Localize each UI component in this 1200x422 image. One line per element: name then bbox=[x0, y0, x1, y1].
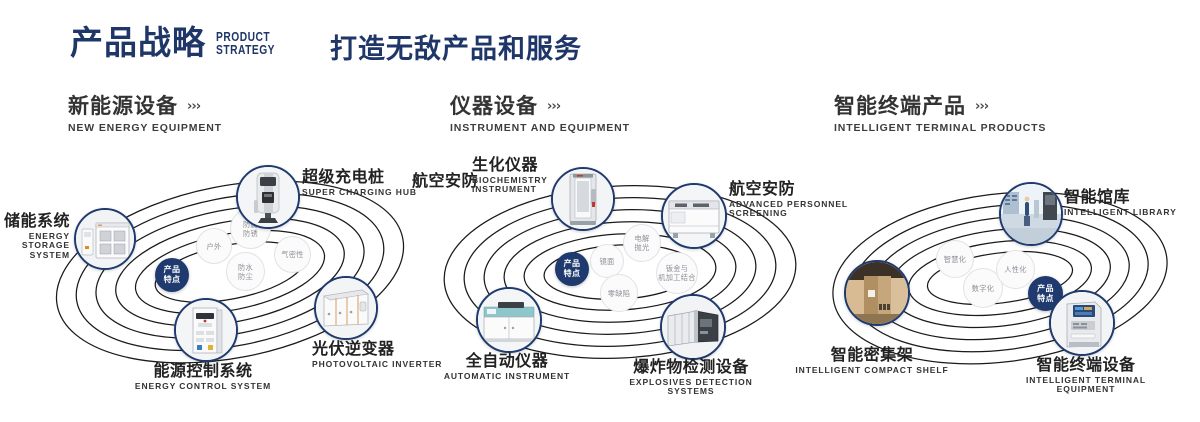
chevron-right-icon: ››› bbox=[975, 100, 988, 113]
section-title-cn: 智能终端产品 ››› bbox=[834, 95, 1046, 118]
node-automatic-instrument[interactable] bbox=[476, 287, 542, 353]
feature-bubble-text: 户外 bbox=[207, 242, 222, 251]
node-energy-storage[interactable] bbox=[74, 208, 136, 270]
node-label-en: BIOCHEMISTRY INSTRUMENT bbox=[472, 176, 592, 195]
node-label-en: AUTOMATIC INSTRUMENT bbox=[432, 372, 582, 382]
node-pv-inverter[interactable] bbox=[314, 276, 378, 340]
feature-bubble-text: 镜面 bbox=[600, 257, 615, 266]
feature-bubble-text: 钣金与 机加工结合 bbox=[658, 264, 695, 282]
feature-bubble: 镜面 bbox=[590, 244, 624, 278]
compact-shelving-photo bbox=[846, 262, 908, 324]
feature-bubble-text: 电解 抛光 bbox=[635, 234, 650, 252]
node-label-explosives-detection: 爆炸物检测设备 EXPLOSIVES DETECTION SYSTEMS bbox=[616, 358, 766, 397]
node-label-en: INTELLIGENT LIBRARY bbox=[1064, 208, 1194, 218]
core-badge-text: 产品 特点 bbox=[564, 259, 581, 279]
node-label-energy-storage: 储能系统 ENERGY STORAGE SYSTEM bbox=[0, 212, 70, 260]
diagram-new-energy: 户外 防腐 防锈 防水 防尘 气密性 产品 特点 bbox=[30, 150, 430, 410]
node-label-automatic-instrument: 全自动仪器 AUTOMATIC INSTRUMENT bbox=[432, 352, 582, 381]
feature-bubble: 气密性 bbox=[274, 236, 311, 273]
feature-bubble-text: 智慧化 bbox=[944, 255, 966, 264]
section-title-instrument: 仪器设备 ››› INSTRUMENT AND EQUIPMENT bbox=[450, 95, 630, 134]
explosives-detector-photo bbox=[662, 296, 724, 358]
section-title-cn-text: 新能源设备 bbox=[68, 95, 178, 118]
chevron-right-icon: ››› bbox=[547, 100, 560, 113]
node-label-en: ENERGY CONTROL SYSTEM bbox=[88, 382, 318, 392]
screening-machine-photo bbox=[663, 185, 725, 247]
node-label-cn: 能源控制系统 bbox=[88, 362, 318, 380]
node-compact-shelf[interactable] bbox=[844, 260, 910, 326]
section-title-cn-text: 智能终端产品 bbox=[834, 95, 966, 118]
node-label-energy-control: 能源控制系统 ENERGY CONTROL SYSTEM bbox=[88, 362, 318, 391]
energy-storage-cabinet-photo bbox=[76, 210, 134, 268]
node-label-terminal-kiosk: 智能终端设备 INTELLIGENT TERMINAL EQUIPMENT bbox=[1006, 356, 1166, 395]
node-label-compact-shelf: 智能密集架 INTELLIGENT COMPACT SHELF bbox=[792, 346, 952, 375]
node-label-intelligent-library: 智能馆库 INTELLIGENT LIBRARY bbox=[1064, 188, 1194, 217]
core-badge-text: 产品 特点 bbox=[164, 265, 181, 285]
feature-bubble-text: 数字化 bbox=[972, 284, 994, 293]
ev-charging-pile-photo bbox=[238, 167, 298, 227]
core-badge-text: 产品 特点 bbox=[1037, 284, 1054, 304]
page-title: 产品战略 PRODUCT STRATEGY bbox=[70, 26, 288, 59]
feature-bubble: 户外 bbox=[196, 228, 232, 264]
poster-canvas: 产品战略 PRODUCT STRATEGY 打造无敌产品和服务 新能源设备 ››… bbox=[0, 0, 1200, 422]
section-title-cn: 仪器设备 ››› bbox=[450, 95, 630, 118]
node-label-cn: 智能馆库 bbox=[1064, 188, 1194, 206]
feature-bubble-text: 气密性 bbox=[281, 250, 303, 259]
node-label-biochemistry: 生化仪器 BIOCHEMISTRY INSTRUMENT bbox=[472, 156, 592, 195]
section-title-cn: 新能源设备 ››› bbox=[68, 95, 222, 118]
automatic-analyzer-photo bbox=[478, 289, 540, 351]
feature-bubble: 电解 抛光 bbox=[623, 224, 661, 262]
core-badge-product-features: 产品 特点 bbox=[155, 258, 189, 292]
node-intelligent-library[interactable] bbox=[999, 182, 1063, 246]
node-label-en: INTELLIGENT COMPACT SHELF bbox=[792, 366, 952, 376]
node-label-en: EXPLOSIVES DETECTION SYSTEMS bbox=[616, 378, 766, 397]
section-title-cn-text: 仪器设备 bbox=[450, 95, 538, 118]
section-title-en: NEW ENERGY EQUIPMENT bbox=[68, 122, 222, 134]
pv-inverter-cabinet-photo bbox=[316, 278, 376, 338]
feature-bubble-text: 零缺陷 bbox=[608, 289, 630, 298]
control-cabinet-photo bbox=[176, 300, 236, 360]
node-label-cn: 生化仪器 bbox=[472, 156, 592, 174]
node-label-cn: 储能系统 bbox=[0, 212, 70, 230]
node-label-en: ENERGY STORAGE SYSTEM bbox=[0, 232, 70, 261]
node-label-cn: 智能终端设备 bbox=[1006, 356, 1166, 374]
section-title-terminal: 智能终端产品 ››› INTELLIGENT TERMINAL PRODUCTS bbox=[834, 95, 1046, 134]
section-title-new-energy: 新能源设备 ››› NEW ENERGY EQUIPMENT bbox=[68, 95, 222, 134]
page-title-cn: 产品战略 bbox=[70, 26, 206, 59]
self-service-kiosk-photo bbox=[1051, 292, 1113, 354]
section-title-en: INTELLIGENT TERMINAL PRODUCTS bbox=[834, 122, 1046, 134]
node-energy-control[interactable] bbox=[174, 298, 238, 362]
node-charging-hub[interactable] bbox=[236, 165, 300, 229]
node-label-cn: 智能密集架 bbox=[792, 346, 952, 364]
page-title-en: PRODUCT STRATEGY bbox=[216, 31, 275, 57]
feature-bubble-text: 人性化 bbox=[1004, 265, 1026, 274]
node-label-en: INTELLIGENT TERMINAL EQUIPMENT bbox=[1006, 376, 1166, 395]
node-label-cn: 全自动仪器 bbox=[432, 352, 582, 370]
feature-bubble: 钣金与 机加工结合 bbox=[656, 252, 698, 294]
node-label-cn: 爆炸物检测设备 bbox=[616, 358, 766, 376]
core-badge-product-features: 产品 特点 bbox=[555, 252, 589, 286]
section-title-en: INSTRUMENT AND EQUIPMENT bbox=[450, 122, 630, 134]
node-terminal-kiosk[interactable] bbox=[1049, 290, 1115, 356]
page-title-en-line2: STRATEGY bbox=[216, 44, 275, 57]
library-interior-photo bbox=[1001, 184, 1061, 244]
page-subtitle: 打造无敌产品和服务 bbox=[330, 36, 582, 63]
feature-bubble: 防水 防尘 bbox=[226, 252, 265, 291]
node-explosives-detection[interactable] bbox=[660, 294, 726, 360]
feature-bubble: 零缺陷 bbox=[600, 274, 638, 312]
chevron-right-icon: ››› bbox=[187, 100, 200, 113]
diagram-instrument: 镜面 电解 抛光 零缺陷 钣金与 机加工结合 产品 特点 bbox=[420, 150, 820, 410]
feature-bubble: 智慧化 bbox=[936, 240, 974, 278]
feature-bubble: 人性化 bbox=[996, 250, 1035, 289]
feature-bubble-text: 防水 防尘 bbox=[238, 263, 253, 281]
node-personnel-screening[interactable] bbox=[661, 183, 727, 249]
diagram-terminal: 智慧化 数字化 人性化 产品 特点 bbox=[800, 150, 1200, 410]
